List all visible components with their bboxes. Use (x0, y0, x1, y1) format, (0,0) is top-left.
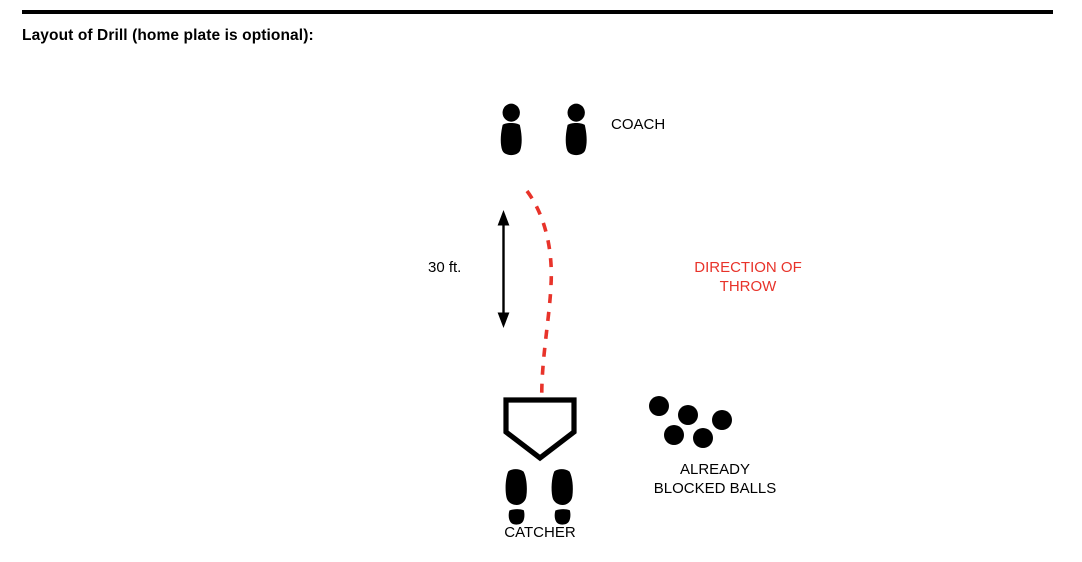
already-blocked-balls-line-1: ALREADY (620, 460, 810, 479)
coach-label: COACH (611, 115, 665, 134)
direction-of-throw-label: DIRECTION OF THROW (668, 258, 828, 296)
coach-footprints-icon (501, 104, 587, 155)
home-plate-icon (506, 400, 574, 458)
distance-label: 30 ft. (428, 258, 461, 277)
already-blocked-balls-label: ALREADY BLOCKED BALLS (620, 460, 810, 498)
distance-arrow-icon (498, 210, 510, 328)
document-page: Layout of Drill (home plate is optional)… (0, 0, 1082, 562)
blocked-balls-icon (649, 396, 732, 448)
catcher-footprints-icon (506, 469, 573, 524)
direction-of-throw-line-2: THROW (668, 277, 828, 296)
direction-of-throw-line-1: DIRECTION OF (668, 258, 828, 277)
catcher-label: CATCHER (470, 523, 610, 542)
already-blocked-balls-line-2: BLOCKED BALLS (620, 479, 810, 498)
drill-layout-diagram (0, 0, 1082, 562)
